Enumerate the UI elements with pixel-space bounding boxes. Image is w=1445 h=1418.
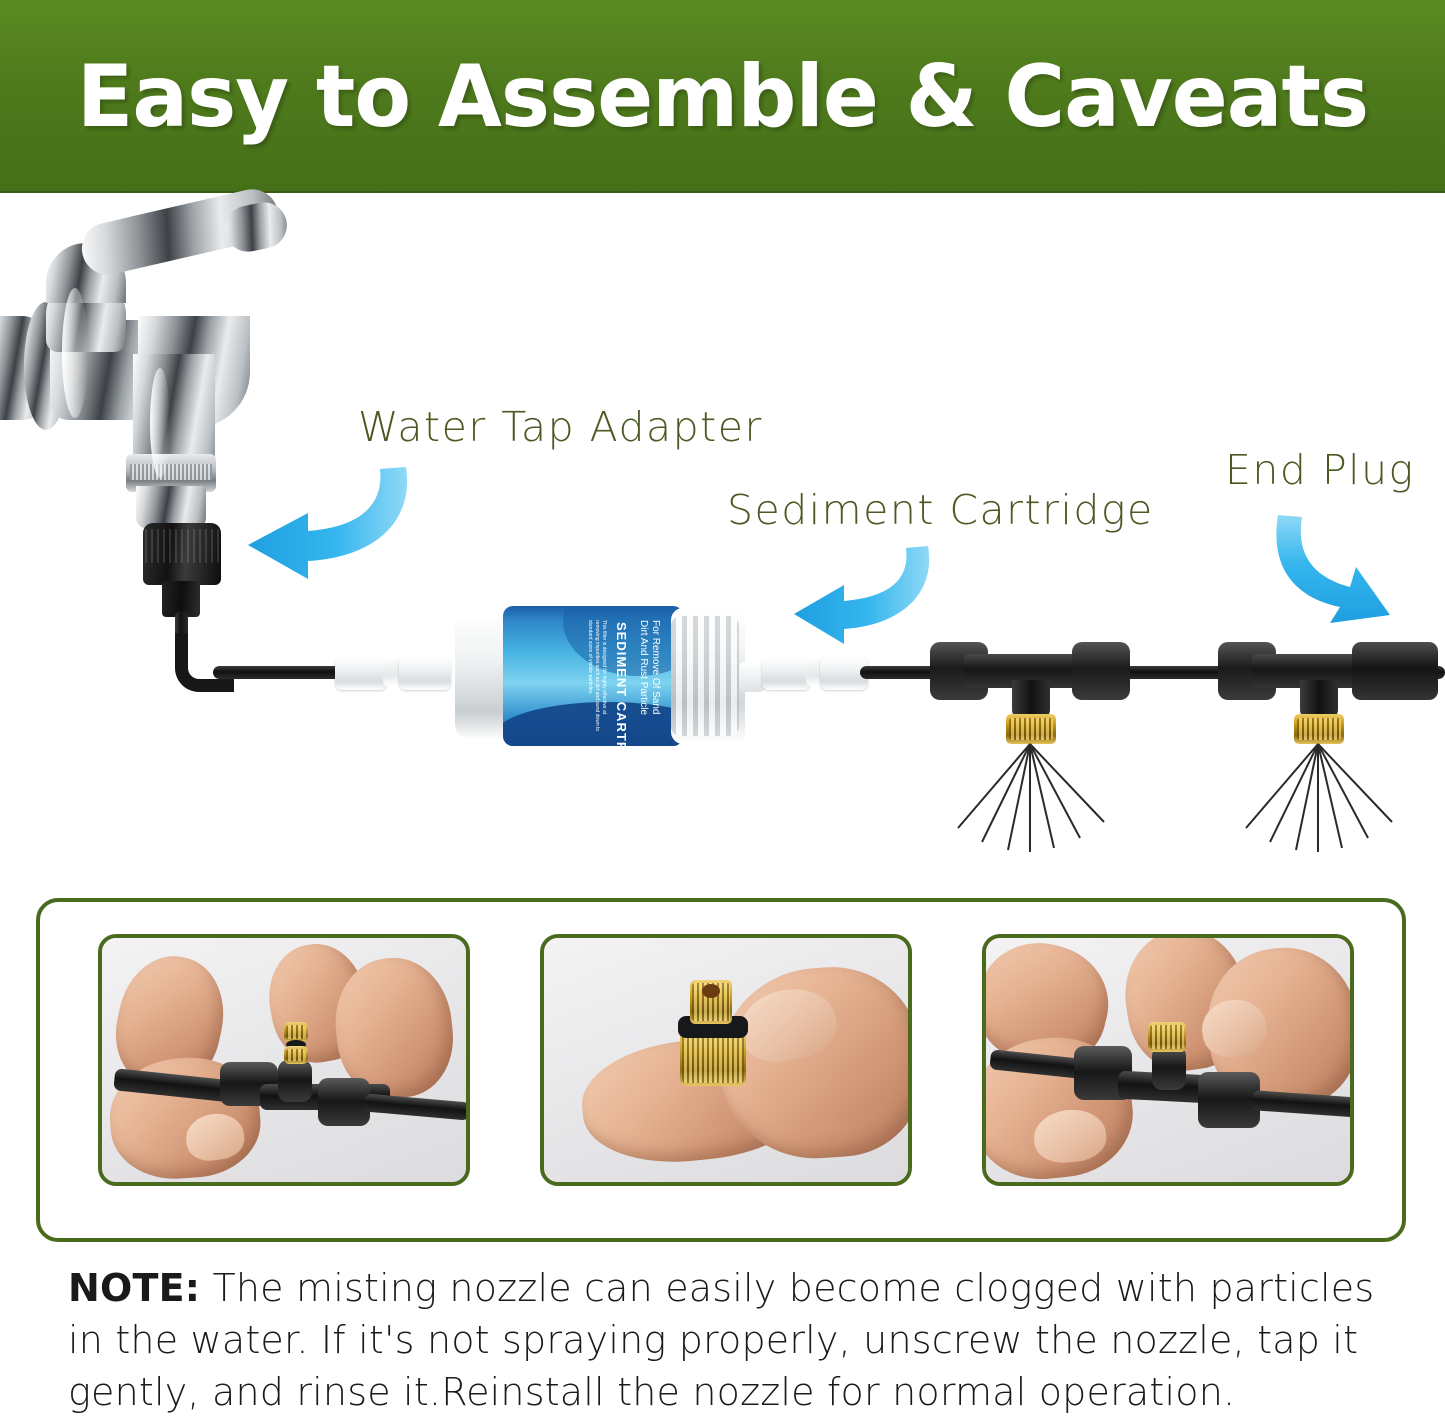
page-title: Easy to Assemble & Caveats: [77, 47, 1368, 147]
arrow-to-sediment-cartridge: [786, 541, 938, 649]
header-banner: Easy to Assemble & Caveats: [0, 0, 1445, 193]
faucet-highlight: [62, 288, 88, 418]
note-block: NOTE: The misting nozzle can easily beco…: [68, 1262, 1388, 1418]
cartridge-body: SEDIMENT CARTRIDGE For Remove Of Sand Di…: [503, 606, 683, 746]
tee-outlet-stem: [1300, 680, 1338, 718]
end-plug-part: [1352, 642, 1438, 700]
tube-elbow: [175, 633, 234, 692]
tee-port: [1152, 1046, 1186, 1090]
label-water-tap-adapter: Water Tap Adapter: [358, 403, 763, 451]
tap-adapter: [143, 523, 221, 585]
spray-lines: [1218, 742, 1418, 852]
cartridge-subtitle-line1: For Remove Of Sand: [650, 620, 661, 714]
photo-tighten-nozzle: [982, 934, 1354, 1186]
black-nut: [1198, 1072, 1260, 1128]
brass-misting-nozzle: [1006, 714, 1056, 744]
brass-misting-nozzle: [1294, 714, 1344, 744]
nozzle-orifice: [702, 984, 720, 998]
faucet-outlet-tip: [136, 486, 206, 528]
tee-outlet-stem: [1012, 680, 1050, 718]
tube-horizontal-1: [213, 666, 348, 679]
faucet-highlight-2: [150, 368, 170, 478]
photo-install-nozzle: [98, 934, 470, 1186]
label-end-plug: End Plug: [1225, 446, 1415, 494]
quick-connect-left-b: [399, 656, 451, 690]
tee-port: [278, 1060, 312, 1102]
assembly-diagram: SEDIMENT CARTRIDGE For Remove Of Sand Di…: [0, 193, 1445, 893]
quick-connect-left-a: [335, 656, 387, 690]
photo-nozzle-closeup: [540, 934, 912, 1186]
label-sediment-cartridge: Sediment Cartridge: [727, 486, 1154, 534]
brass-nozzle-knurled-body: [680, 1030, 746, 1086]
brass-nozzle-held: [284, 1022, 308, 1042]
black-nut: [318, 1078, 370, 1126]
brass-nozzle-installed: [1148, 1022, 1186, 1052]
tee-nut-right: [1072, 642, 1130, 700]
cartridge-body-text: This filter is designed for highly effec…: [586, 620, 607, 732]
misting-nozzle-tee-1: [930, 636, 1130, 706]
note-prefix: NOTE:: [68, 1266, 200, 1310]
note-text: The misting nozzle can easily become clo…: [68, 1266, 1374, 1414]
spray-lines: [930, 742, 1130, 852]
sediment-cartridge-illustration: SEDIMENT CARTRIDGE For Remove Of Sand Di…: [455, 606, 745, 746]
cartridge-title-text: SEDIMENT CARTRIDGE: [614, 622, 629, 746]
quick-connect-right-a: [762, 656, 810, 690]
cartridge-subtitle-line2: Dirt And Rust Particle: [638, 620, 649, 715]
arrow-to-end-plug: [1264, 511, 1394, 629]
cartridge-cap-right: [671, 608, 745, 744]
brass-nozzle-thread: [284, 1046, 308, 1064]
arrow-to-tap-adapter: [238, 461, 418, 586]
